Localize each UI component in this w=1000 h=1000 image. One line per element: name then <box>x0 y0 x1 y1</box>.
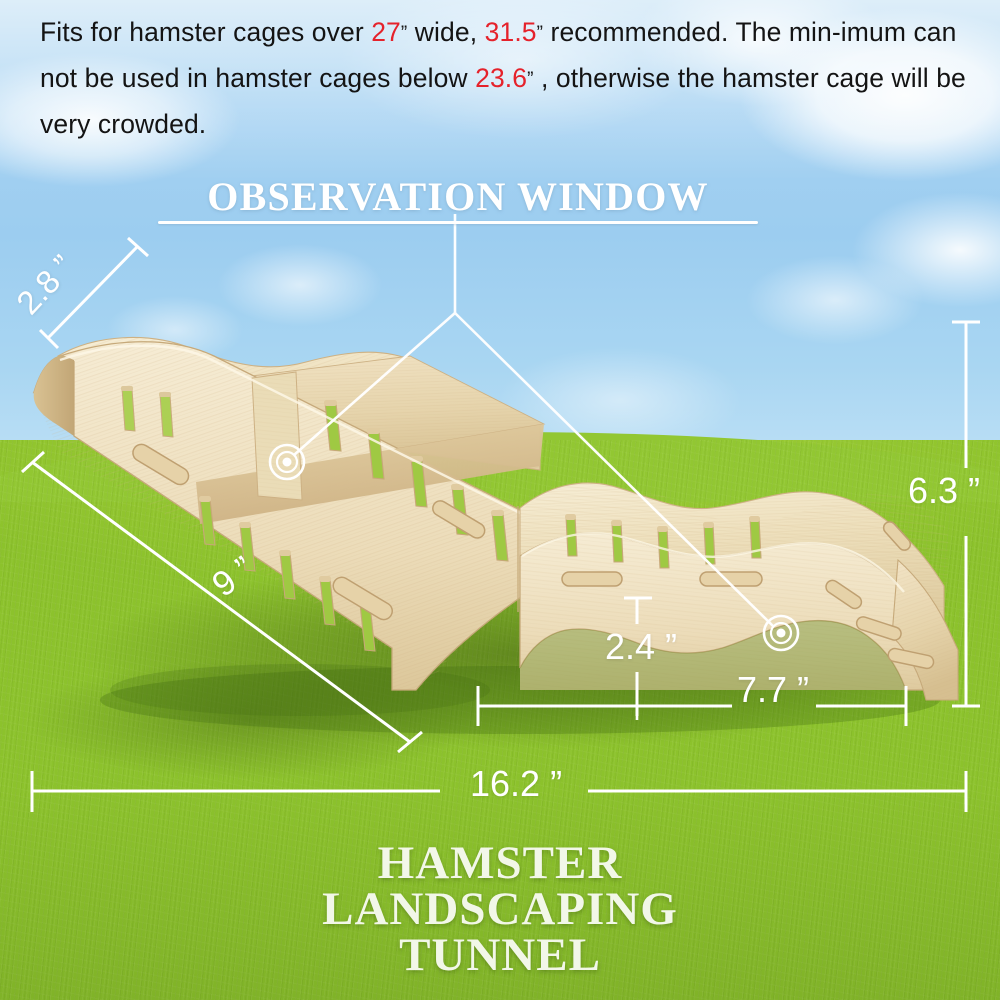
infographic-canvas: Fits for hamster cages over 27” wide, 31… <box>0 0 1000 1000</box>
product-title-line-1: HAMSTER <box>0 840 1000 886</box>
dimension-label-total-width: 16.2 ” <box>470 763 562 805</box>
upper-ramp-assembly <box>0 330 600 710</box>
product-title-line-2: LANDSCAPING <box>0 886 1000 932</box>
observation-window-callout: OBSERVATION WINDOW <box>158 176 758 224</box>
dimension-label-height: 6.3 ” <box>908 470 980 512</box>
product-title: HAMSTER LANDSCAPING TUNNEL <box>0 840 1000 978</box>
observation-window-label: OBSERVATION WINDOW <box>158 176 758 218</box>
dimension-label-lower-width: 7.7 ” <box>737 669 809 711</box>
product-title-line-3: TUNNEL <box>0 932 1000 978</box>
observation-window-underline <box>158 221 758 224</box>
dimension-label-step-height: 2.4 ” <box>605 626 677 668</box>
